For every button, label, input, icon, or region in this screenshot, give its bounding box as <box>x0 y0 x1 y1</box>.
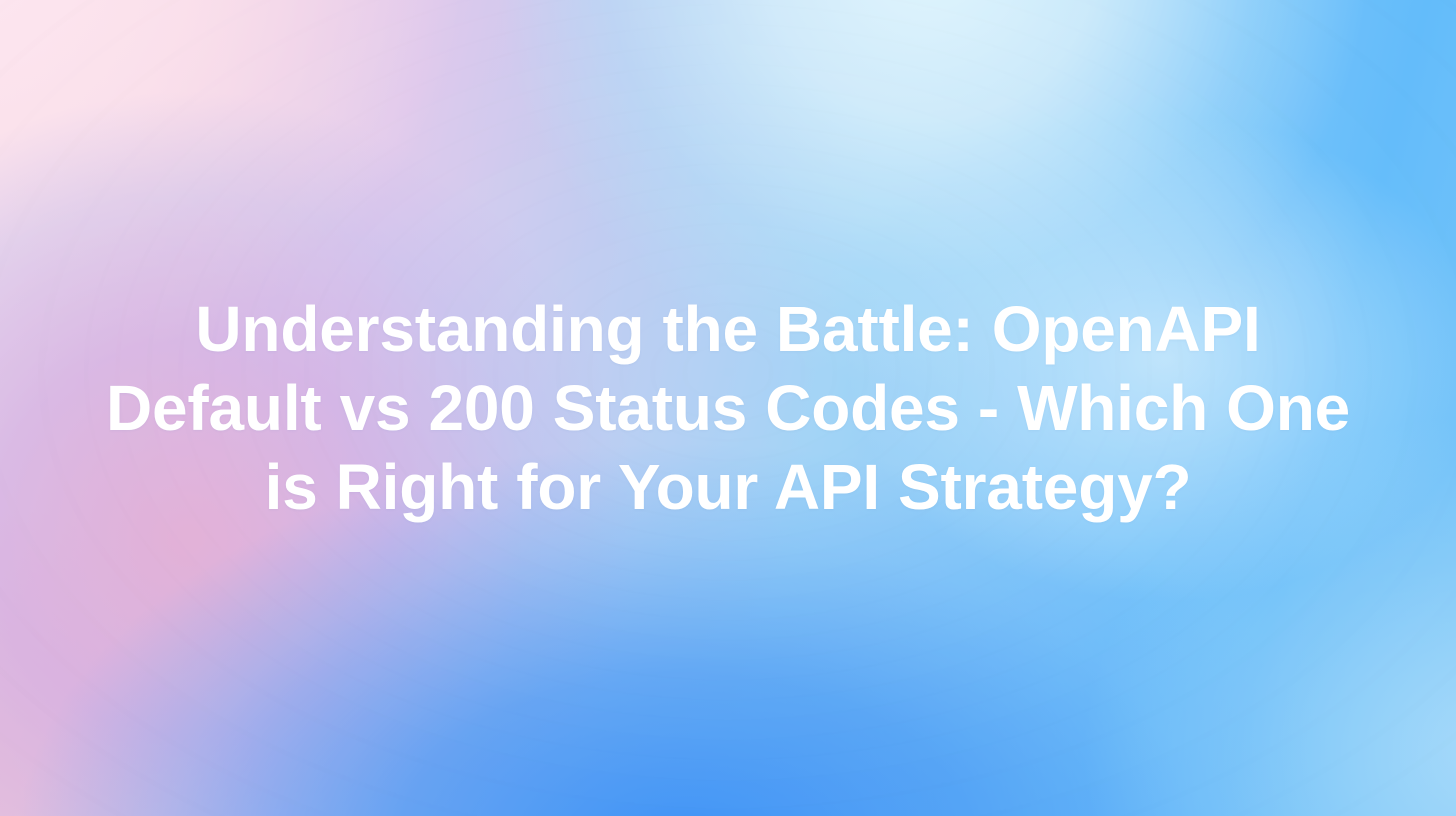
title-line-1: Understanding the Battle: OpenAPI <box>195 293 1260 365</box>
title-line-2: Default vs 200 Status Codes - Which One <box>106 372 1350 444</box>
hero-banner: Understanding the Battle: OpenAPI Defaul… <box>0 0 1456 816</box>
title-line-3: is Right for Your API Strategy? <box>265 451 1192 523</box>
page-title: Understanding the Battle: OpenAPI Defaul… <box>56 290 1400 527</box>
title-block: Understanding the Battle: OpenAPI Defaul… <box>28 290 1428 527</box>
